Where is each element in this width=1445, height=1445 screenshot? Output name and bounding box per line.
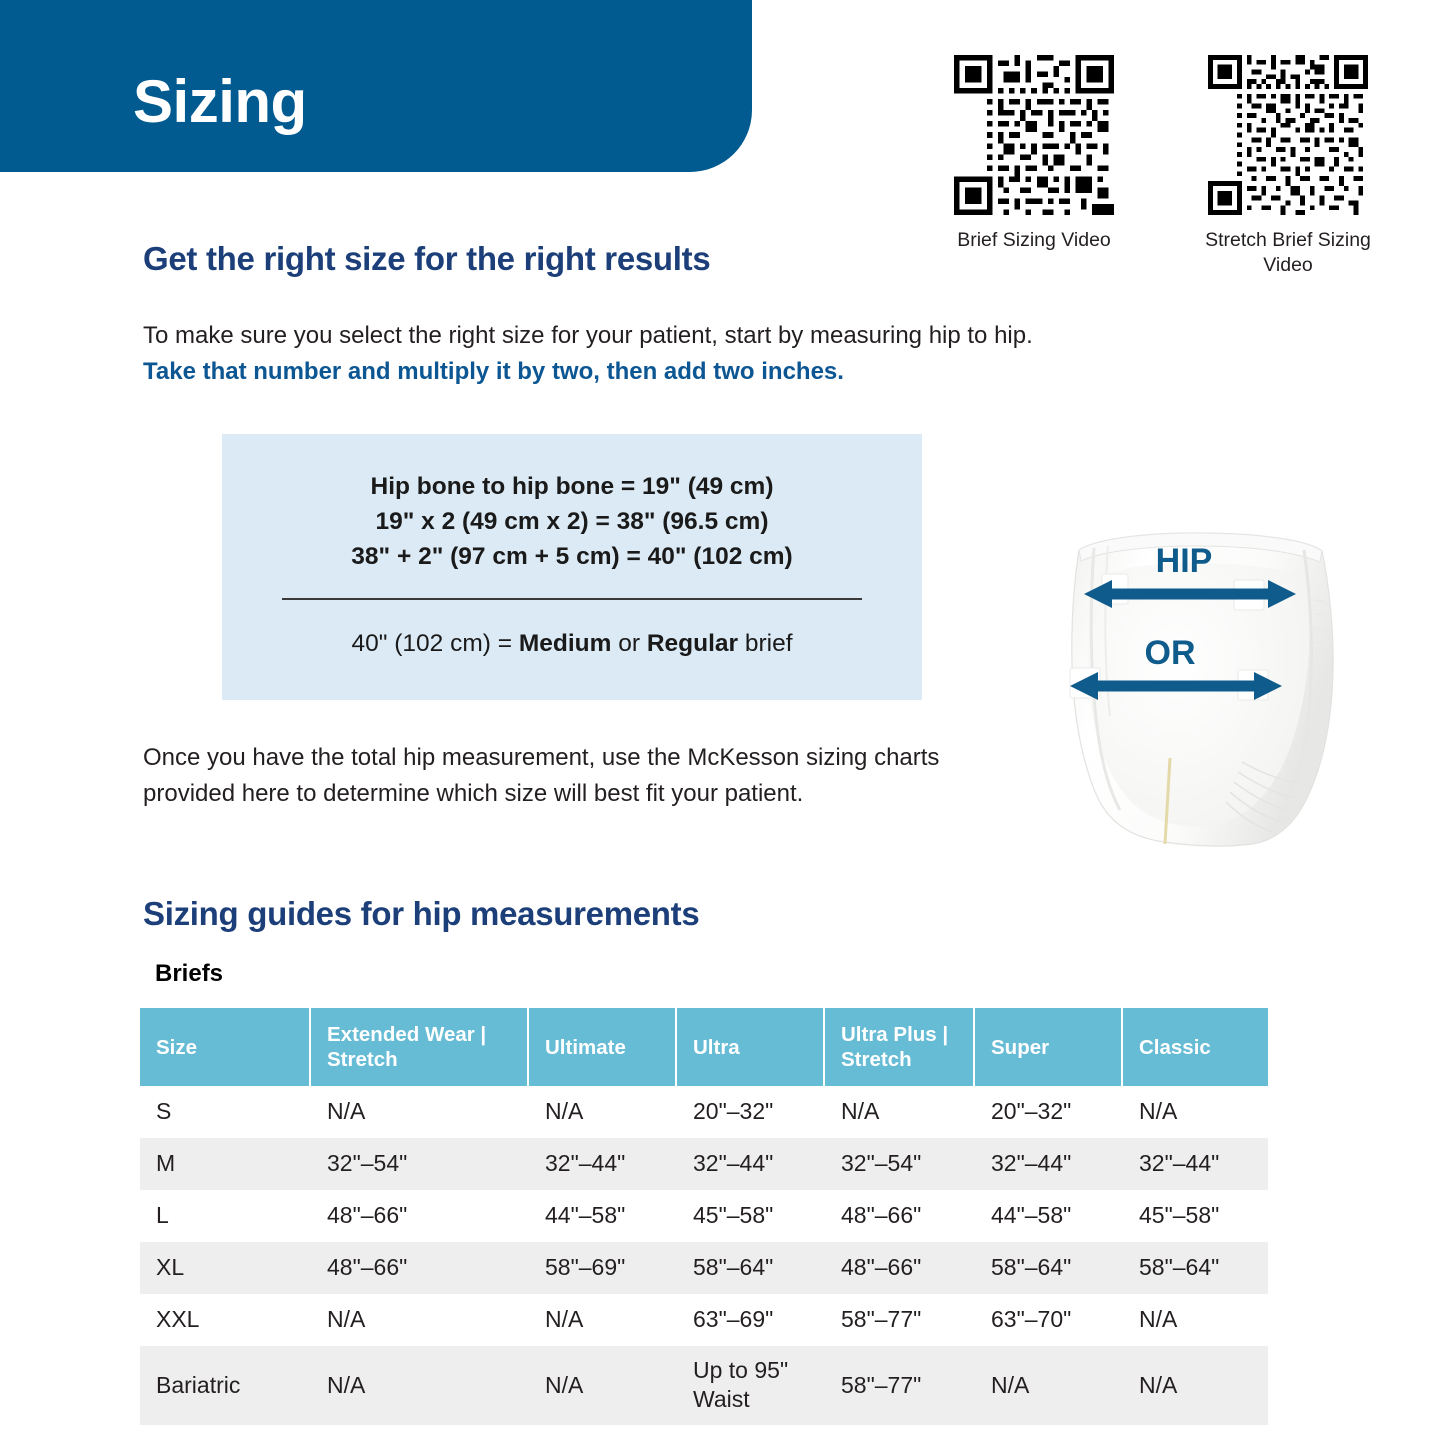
table-row: S N/A N/A 20"–32" N/A 20"–32" N/A (140, 1086, 1268, 1138)
cell-ultra-plus: 58"–77" (824, 1294, 974, 1346)
cell-ultimate: N/A (528, 1086, 676, 1138)
column-header-extended-wear-stretch: Extended Wear | Stretch (310, 1008, 528, 1086)
cell-super: 44"–58" (974, 1190, 1122, 1242)
cell-super: 58"–64" (974, 1242, 1122, 1294)
calc-result-size-regular: Regular (647, 630, 738, 657)
cell-classic: N/A (1122, 1346, 1268, 1425)
intro-emphasis-text: Take that number and multiply it by two,… (143, 358, 844, 385)
cell-ultra: 63"–69" (676, 1294, 824, 1346)
calc-result-suffix: brief (738, 630, 792, 657)
cell-super: 20"–32" (974, 1086, 1122, 1138)
calculation-example-box: Hip bone to hip bone = 19" (49 cm) 19" x… (222, 434, 922, 700)
section-heading-get-right-size: Get the right size for the right results (143, 240, 710, 278)
cell-ultra-plus: 32"–54" (824, 1138, 974, 1190)
calc-divider (282, 598, 862, 600)
column-header-ultra: Ultra (676, 1008, 824, 1086)
table-row: XL 48"–66" 58"–69" 58"–64" 48"–66" 58"–6… (140, 1242, 1268, 1294)
cell-ultra: 58"–64" (676, 1242, 824, 1294)
cell-size: S (140, 1086, 310, 1138)
page-banner: Sizing (0, 0, 752, 172)
cell-ultra: 45"–58" (676, 1190, 824, 1242)
table-row: Bariatric N/A N/A Up to 95" Waist 58"–77… (140, 1346, 1268, 1425)
qr-block-stretch-brief-sizing[interactable]: Stretch Brief Sizing Video (1202, 55, 1374, 278)
cell-size: Bariatric (140, 1346, 310, 1425)
cell-classic: 45"–58" (1122, 1190, 1268, 1242)
table-row: L 48"–66" 44"–58" 45"–58" 48"–66" 44"–58… (140, 1190, 1268, 1242)
after-calculation-paragraph: Once you have the total hip measurement,… (143, 740, 1003, 813)
cell-extended-wear: 48"–66" (310, 1242, 528, 1294)
column-header-ultra-plus-stretch: Ultra Plus | Stretch (824, 1008, 974, 1086)
qr-caption: Brief Sizing Video (948, 228, 1120, 253)
cell-ultimate: 58"–69" (528, 1242, 676, 1294)
cell-ultra-plus: N/A (824, 1086, 974, 1138)
cell-classic: 32"–44" (1122, 1138, 1268, 1190)
cell-size: XL (140, 1242, 310, 1294)
qr-code-icon[interactable] (954, 55, 1114, 215)
cell-extended-wear: N/A (310, 1294, 528, 1346)
or-arrow-label: OR (1145, 634, 1196, 672)
cell-ultra-plus: 48"–66" (824, 1190, 974, 1242)
cell-classic: N/A (1122, 1086, 1268, 1138)
cell-ultimate: 44"–58" (528, 1190, 676, 1242)
cell-classic: 58"–64" (1122, 1242, 1268, 1294)
briefs-sizing-table: Size Extended Wear | Stretch Ultimate Ul… (140, 1008, 1269, 1425)
cell-size: M (140, 1138, 310, 1190)
cell-extended-wear: N/A (310, 1346, 528, 1425)
calc-line-1: Hip bone to hip bone = 19" (49 cm) (222, 470, 922, 505)
qr-caption: Stretch Brief Sizing Video (1202, 228, 1374, 278)
cell-ultimate: 32"–44" (528, 1138, 676, 1190)
calc-result-prefix: 40" (102 cm) = (352, 630, 519, 657)
intro-plain-text: To make sure you select the right size f… (143, 322, 1033, 349)
page-title: Sizing (133, 72, 307, 132)
calc-line-3: 38" + 2" (97 cm + 5 cm) = 40" (102 cm) (222, 540, 922, 575)
brief-illustration-icon: HIP OR (1046, 504, 1376, 854)
cell-extended-wear: 32"–54" (310, 1138, 528, 1190)
table-label-briefs: Briefs (155, 960, 223, 988)
column-header-classic: Classic (1122, 1008, 1268, 1086)
qr-code-icon[interactable] (1208, 55, 1368, 215)
calc-line-2: 19" x 2 (49 cm x 2) = 38" (96.5 cm) (222, 505, 922, 540)
cell-size: XXL (140, 1294, 310, 1346)
section-heading-sizing-guides: Sizing guides for hip measurements (143, 895, 699, 933)
cell-classic: N/A (1122, 1294, 1268, 1346)
sizing-page: Sizing (0, 0, 1445, 1445)
calc-result-conjunction: or (611, 630, 646, 657)
table-row: M 32"–54" 32"–44" 32"–44" 32"–54" 32"–44… (140, 1138, 1268, 1190)
cell-ultra-plus: 48"–66" (824, 1242, 974, 1294)
calc-result-size-medium: Medium (519, 630, 612, 657)
calc-result-line: 40" (102 cm) = Medium or Regular brief (222, 630, 922, 658)
cell-ultimate: N/A (528, 1346, 676, 1425)
column-header-ultimate: Ultimate (528, 1008, 676, 1086)
cell-ultra: 32"–44" (676, 1138, 824, 1190)
table-row: XXL N/A N/A 63"–69" 58"–77" 63"–70" N/A (140, 1294, 1268, 1346)
cell-ultra: 20"–32" (676, 1086, 824, 1138)
cell-ultra-plus: 58"–77" (824, 1346, 974, 1425)
cell-ultimate: N/A (528, 1294, 676, 1346)
table-header-row: Size Extended Wear | Stretch Ultimate Ul… (140, 1008, 1268, 1086)
cell-size: L (140, 1190, 310, 1242)
cell-super: N/A (974, 1346, 1122, 1425)
hip-arrow-label: HIP (1156, 542, 1213, 580)
column-header-super: Super (974, 1008, 1122, 1086)
cell-extended-wear: 48"–66" (310, 1190, 528, 1242)
intro-paragraph: To make sure you select the right size f… (143, 318, 1043, 391)
qr-block-brief-sizing[interactable]: Brief Sizing Video (948, 55, 1120, 278)
qr-code-group: Brief Sizing Video (948, 55, 1418, 278)
cell-ultra: Up to 95" Waist (676, 1346, 824, 1425)
column-header-size: Size (140, 1008, 310, 1086)
cell-super: 32"–44" (974, 1138, 1122, 1190)
cell-super: 63"–70" (974, 1294, 1122, 1346)
cell-extended-wear: N/A (310, 1086, 528, 1138)
brief-product-image: HIP OR (1046, 504, 1376, 854)
